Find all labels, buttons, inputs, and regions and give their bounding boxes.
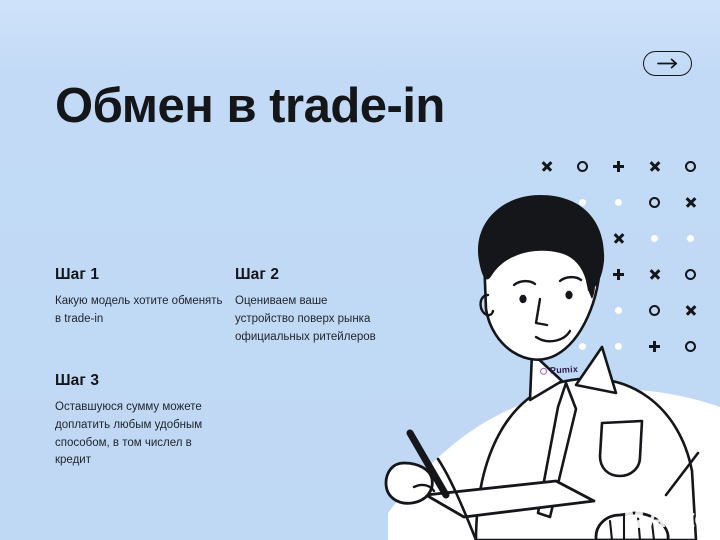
next-arrow-button[interactable] <box>643 51 692 76</box>
step-3: Шаг 3 Оставшуюся сумму можете доплатить … <box>55 372 220 470</box>
shirt-logo: Pumix <box>540 364 578 376</box>
plus-symbol-icon <box>613 269 624 280</box>
plus-symbol-icon <box>613 161 624 172</box>
circle-symbol-icon <box>577 233 588 244</box>
arrow-right-icon <box>657 58 679 69</box>
avito-logo-icon <box>625 510 643 528</box>
circle-symbol-icon <box>577 161 588 172</box>
avito-watermark: Avito <box>625 505 711 532</box>
avito-wordmark: Avito <box>647 505 711 532</box>
dot-symbol-icon <box>579 199 586 206</box>
cross-symbol-icon <box>649 161 660 172</box>
cross-symbol-icon <box>649 269 660 280</box>
dot-symbol-icon <box>579 307 586 314</box>
circle-symbol-icon <box>685 341 696 352</box>
circle-symbol-icon <box>685 269 696 280</box>
step-1-body: Какую модель хотите обменять в trade-in <box>55 293 230 329</box>
step-3-title: Шаг 3 <box>55 372 220 390</box>
circle-symbol-icon <box>649 197 660 208</box>
circle-symbol-icon <box>541 197 552 208</box>
dot-symbol-icon <box>543 235 550 242</box>
dot-symbol-icon <box>651 235 658 242</box>
cross-symbol-icon <box>613 233 624 244</box>
slide-canvas: Обмен в trade-in <box>0 0 720 540</box>
circle-symbol-icon <box>577 269 588 280</box>
circle-symbol-icon <box>685 161 696 172</box>
dot-symbol-icon <box>615 307 622 314</box>
dot-symbol-icon <box>687 235 694 242</box>
dot-symbol-icon <box>579 343 586 350</box>
dot-symbol-icon <box>543 271 550 278</box>
pumix-logo-mark-icon <box>540 367 547 374</box>
step-3-body: Оставшуюся сумму можете доплатить любым … <box>55 399 220 470</box>
page-title: Обмен в trade-in <box>55 81 445 132</box>
step-1-title: Шаг 1 <box>55 266 230 284</box>
step-1: Шаг 1 Какую модель хотите обменять в tra… <box>55 266 230 329</box>
circle-symbol-icon <box>649 305 660 316</box>
dot-symbol-icon <box>615 343 622 350</box>
dot-symbol-icon <box>543 307 550 314</box>
dot-symbol-icon <box>543 343 550 350</box>
pumix-logo-text: Pumix <box>550 364 579 375</box>
cross-symbol-icon <box>685 305 696 316</box>
plus-symbol-icon <box>649 341 660 352</box>
cross-symbol-icon <box>685 197 696 208</box>
step-2: Шаг 2 Оцениваем ваше устройство поверх р… <box>235 266 385 346</box>
dot-symbol-icon <box>615 199 622 206</box>
step-2-title: Шаг 2 <box>235 266 385 284</box>
decorative-symbol-grid <box>528 148 700 364</box>
step-2-body: Оцениваем ваше устройство поверх рынка о… <box>235 293 385 346</box>
cross-symbol-icon <box>541 161 552 172</box>
